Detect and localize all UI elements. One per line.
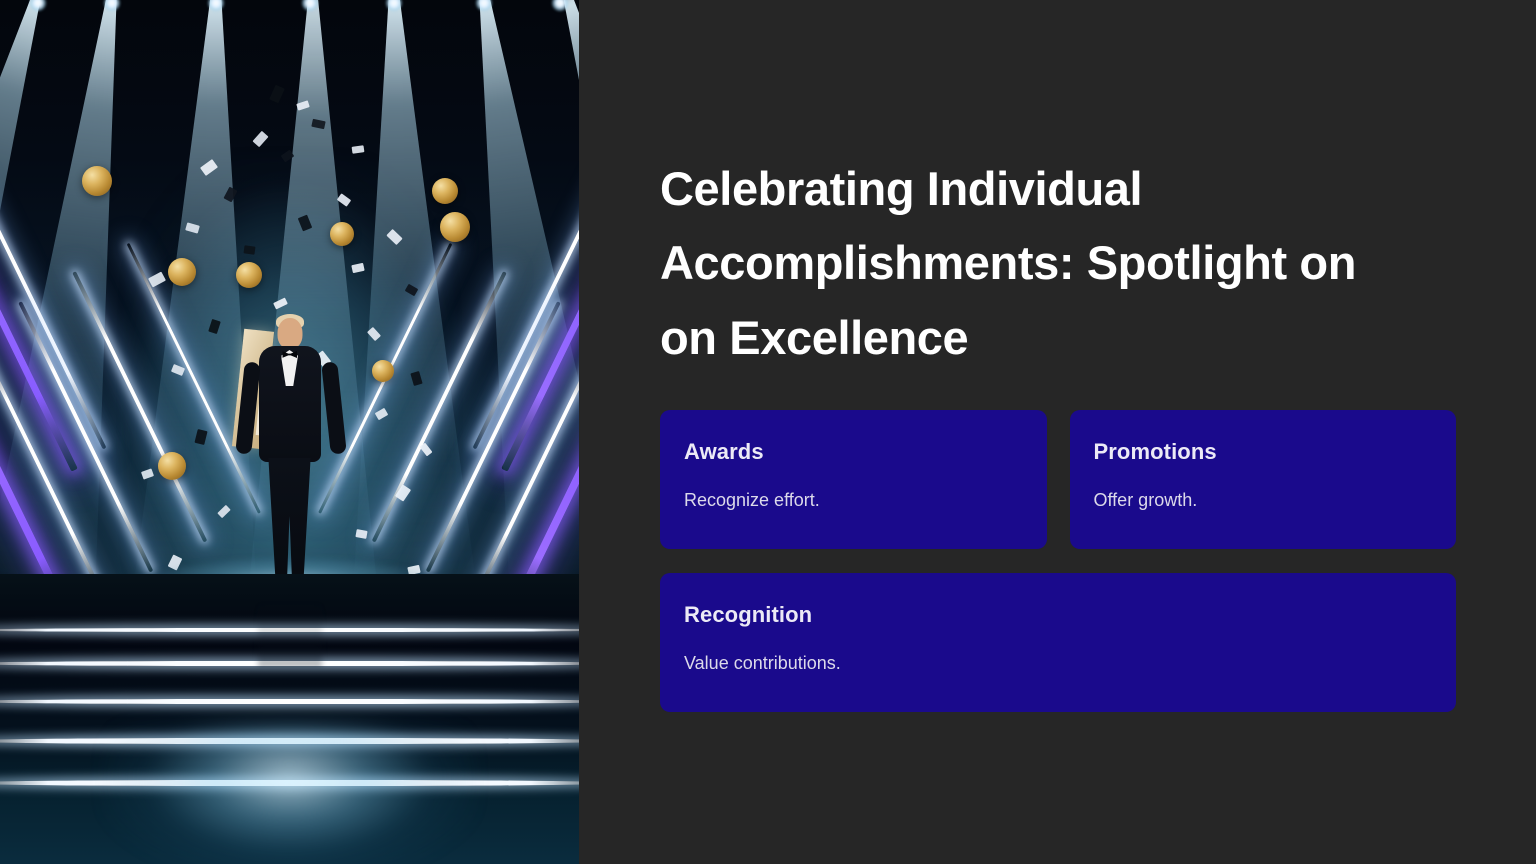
performer-head xyxy=(277,318,302,349)
card-row-bottom: Recognition Value contributions. xyxy=(660,573,1456,712)
confetti-30 xyxy=(355,529,367,539)
stage-scene-illustration xyxy=(0,0,579,864)
card-awards-body: Recognize effort. xyxy=(684,490,1023,512)
card-awards[interactable]: Awards Recognize effort. xyxy=(660,410,1047,549)
card-promotions-body: Offer growth. xyxy=(1094,490,1433,512)
stage-award-image xyxy=(0,0,579,864)
floor-reflection-glow xyxy=(104,724,475,864)
performer-floor-reflection xyxy=(258,601,322,667)
gold-balloon-8 xyxy=(372,360,394,382)
highlight-cards-area: Awards Recognize effort. Promotions Offe… xyxy=(660,410,1456,712)
floor-light-strip-3 xyxy=(0,699,579,704)
card-recognition-body: Value contributions. xyxy=(684,653,1432,675)
gold-balloon-5 xyxy=(432,178,458,204)
performer-legs xyxy=(266,458,314,590)
card-row-top: Awards Recognize effort. Promotions Offe… xyxy=(660,410,1456,549)
card-promotions[interactable]: Promotions Offer growth. xyxy=(1070,410,1457,549)
award-winner-figure xyxy=(234,318,346,618)
slide-content-panel: Celebrating Individual Accomplishments: … xyxy=(579,0,1536,864)
confetti-13 xyxy=(243,245,255,254)
card-recognition-title: Recognition xyxy=(684,603,1432,627)
gold-balloon-1 xyxy=(82,166,112,196)
card-promotions-title: Promotions xyxy=(1094,440,1433,464)
gold-balloon-7 xyxy=(158,452,186,480)
card-awards-title: Awards xyxy=(684,440,1023,464)
gold-balloon-4 xyxy=(330,222,354,246)
performer-right-arm xyxy=(321,361,347,454)
card-recognition[interactable]: Recognition Value contributions. xyxy=(660,573,1456,712)
presentation-slide: Celebrating Individual Accomplishments: … xyxy=(0,0,1536,864)
gold-balloon-3 xyxy=(236,262,262,288)
gold-balloon-2 xyxy=(168,258,196,286)
slide-title: Celebrating Individual Accomplishments: … xyxy=(660,152,1390,375)
gold-balloon-6 xyxy=(440,212,470,242)
